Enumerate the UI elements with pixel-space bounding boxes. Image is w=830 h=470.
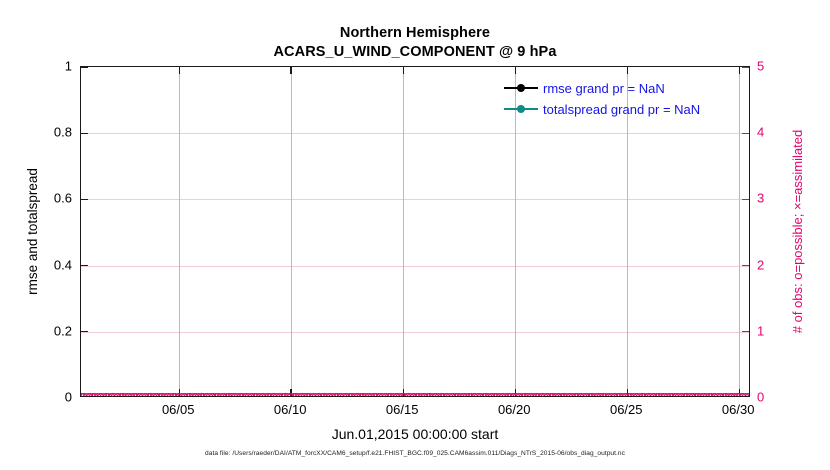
obs-possible-marker [404, 393, 411, 396]
obs-assimilated-marker: × [724, 392, 733, 396]
obs-assimilated-marker: × [719, 392, 728, 396]
obs-assimilated-marker: × [82, 392, 91, 396]
obs-assimilated-marker: × [741, 392, 749, 396]
obs-assimilated-marker: × [495, 392, 504, 396]
obs-possible-marker [555, 393, 562, 396]
obs-assimilated-marker: × [328, 392, 337, 396]
obs-possible-marker [694, 393, 701, 396]
obs-possible-marker [253, 393, 260, 396]
horizontal-gridline [81, 332, 749, 333]
obs-assimilated-marker: × [155, 392, 164, 396]
legend-swatch-rmse [504, 81, 538, 95]
obs-possible-marker [432, 393, 439, 396]
obs-possible-marker [225, 393, 232, 396]
obs-possible-marker [664, 393, 671, 396]
x-axis-tick [290, 389, 291, 396]
obs-assimilated-marker: × [300, 392, 309, 396]
obs-assimilated-marker: × [691, 392, 700, 396]
obs-possible-marker [136, 393, 143, 396]
obs-possible-marker [572, 393, 579, 396]
obs-assimilated-marker: × [199, 392, 208, 396]
chart-legend: rmse grand pr = NaN totalspread grand pr… [504, 80, 700, 117]
obs-possible-marker [170, 393, 177, 396]
obs-possible-marker [600, 393, 607, 396]
obs-possible-marker [326, 393, 333, 396]
obs-assimilated-marker: × [305, 392, 314, 396]
secondary-y-axis-tick-label: 3 [757, 191, 797, 206]
obs-possible-marker [602, 393, 609, 396]
y-axis-tick [81, 265, 88, 266]
obs-assimilated-marker: × [707, 392, 716, 396]
obs-assimilated-marker: × [356, 392, 365, 396]
obs-possible-marker [203, 393, 210, 396]
obs-possible-marker [273, 393, 280, 396]
obs-possible-marker [119, 393, 126, 396]
obs-assimilated-marker: × [138, 392, 147, 396]
obs-possible-marker [669, 393, 676, 396]
x-axis-tick-label: 06/15 [362, 402, 442, 417]
obs-possible-marker [81, 393, 87, 396]
secondary-y-axis-tick-label: 4 [757, 125, 797, 140]
obs-possible-marker [206, 393, 213, 396]
obs-assimilated-marker: × [663, 392, 672, 396]
obs-possible-marker [594, 393, 601, 396]
obs-possible-marker [706, 393, 713, 396]
obs-possible-marker [332, 393, 339, 396]
obs-assimilated-marker: × [372, 392, 381, 396]
obs-assimilated-marker: × [244, 392, 253, 396]
obs-possible-marker [292, 393, 299, 396]
obs-possible-marker [248, 393, 255, 396]
obs-assimilated-marker: × [99, 392, 108, 396]
obs-possible-marker [346, 393, 353, 396]
obs-possible-marker [359, 393, 366, 396]
obs-assimilated-marker: × [473, 392, 482, 396]
obs-possible-marker [675, 393, 682, 396]
obs-possible-marker [731, 393, 738, 396]
obs-possible-marker [237, 393, 244, 396]
obs-assimilated-marker: × [149, 392, 158, 396]
obs-possible-marker [259, 393, 266, 396]
y-axis-tick [81, 133, 88, 134]
obs-possible-marker [279, 393, 286, 396]
obs-possible-marker [440, 393, 447, 396]
x-axis-tick [627, 389, 628, 396]
obs-possible-marker [720, 393, 727, 396]
obs-assimilated-marker: × [216, 392, 225, 396]
vertical-gridline [179, 67, 180, 396]
x-axis-title: Jun.01,2015 00:00:00 start [0, 426, 830, 442]
vertical-gridline [403, 67, 404, 396]
obs-possible-marker [725, 393, 732, 396]
secondary-y-axis-tick [742, 199, 749, 200]
obs-assimilated-marker: × [250, 392, 259, 396]
horizontal-gridline [81, 199, 749, 200]
obs-possible-marker [393, 393, 400, 396]
obs-assimilated-marker: × [646, 392, 655, 396]
obs-possible-marker [373, 393, 380, 396]
obs-assimilated-marker: × [188, 392, 197, 396]
obs-assimilated-marker: × [562, 392, 571, 396]
obs-possible-marker [435, 393, 442, 396]
obs-possible-marker [468, 393, 475, 396]
obs-possible-marker [214, 393, 221, 396]
obs-possible-marker [128, 393, 135, 396]
obs-assimilated-marker: × [523, 392, 532, 396]
obs-possible-marker [485, 393, 492, 396]
obs-assimilated-marker: × [121, 392, 130, 396]
obs-assimilated-marker: × [81, 392, 86, 396]
obs-possible-marker [415, 393, 422, 396]
obs-assimilated-marker: × [211, 392, 220, 396]
obs-possible-marker [312, 393, 319, 396]
obs-possible-marker [466, 393, 473, 396]
x-axis-tick-label: 06/20 [474, 402, 554, 417]
obs-assimilated-marker: × [389, 392, 398, 396]
obs-possible-marker [301, 393, 308, 396]
obs-possible-marker [627, 393, 634, 396]
obs-possible-marker [703, 393, 710, 396]
obs-possible-marker [94, 393, 101, 396]
obs-possible-marker [147, 393, 154, 396]
obs-assimilated-marker: × [680, 392, 689, 396]
obs-assimilated-marker: × [652, 392, 661, 396]
obs-possible-marker [97, 393, 104, 396]
obs-assimilated-marker: × [445, 392, 454, 396]
x-axis-tick-label: 06/05 [138, 402, 218, 417]
obs-assimilated-marker: × [573, 392, 582, 396]
obs-possible-marker [457, 393, 464, 396]
obs-assimilated-marker: × [462, 392, 471, 396]
obs-assimilated-marker: × [439, 392, 448, 396]
obs-possible-marker [549, 393, 556, 396]
obs-possible-marker [281, 393, 288, 396]
x-axis-tick [515, 389, 516, 396]
obs-possible-marker [424, 393, 431, 396]
obs-possible-marker [658, 393, 665, 396]
obs-possible-marker [103, 393, 110, 396]
obs-possible-marker [86, 393, 93, 396]
obs-possible-marker [267, 393, 274, 396]
obs-possible-marker [616, 393, 623, 396]
obs-possible-marker [309, 393, 316, 396]
obs-assimilated-marker: × [423, 392, 432, 396]
obs-assimilated-marker: × [635, 392, 644, 396]
obs-possible-marker [452, 393, 459, 396]
y-axis-tick [81, 331, 88, 332]
obs-possible-marker [636, 393, 643, 396]
obs-possible-marker [161, 393, 168, 396]
obs-possible-marker [362, 393, 369, 396]
y-axis-tick-label: 0.4 [12, 257, 72, 272]
x-axis-tick-label: 06/30 [698, 402, 778, 417]
obs-possible-marker [371, 393, 378, 396]
y-axis-tick-label: 0 [12, 390, 72, 405]
obs-possible-marker [563, 393, 570, 396]
obs-possible-marker [560, 393, 567, 396]
obs-possible-marker [641, 393, 648, 396]
obs-assimilated-marker: × [596, 392, 605, 396]
obs-possible-marker [471, 393, 478, 396]
obs-possible-marker [714, 393, 721, 396]
legend-item-rmse[interactable]: rmse grand pr = NaN [504, 80, 700, 96]
obs-possible-marker [142, 393, 149, 396]
obs-count-marker-band: ××××××××××××××××××××××××××××××××××××××××… [81, 391, 749, 396]
obs-possible-marker [739, 393, 746, 396]
obs-possible-marker [700, 393, 707, 396]
obs-possible-marker [708, 393, 715, 396]
data-file-caption: data file: /Users/raeder/DAI/ATM_forcXX/… [0, 450, 830, 457]
obs-possible-marker [354, 393, 361, 396]
obs-possible-marker [742, 393, 749, 396]
obs-possible-marker [318, 393, 325, 396]
obs-assimilated-marker: × [104, 392, 113, 396]
chart-title: Northern Hemisphere [0, 24, 830, 43]
obs-possible-marker [276, 393, 283, 396]
obs-possible-marker [460, 393, 467, 396]
obs-possible-marker [619, 393, 626, 396]
obs-assimilated-marker: × [657, 392, 666, 396]
obs-possible-marker [262, 393, 269, 396]
obs-possible-marker [217, 393, 224, 396]
obs-assimilated-marker: × [629, 392, 638, 396]
secondary-y-axis-title: # of obs: o=possible; ×=assimilated [788, 66, 808, 397]
obs-assimilated-marker: × [116, 392, 125, 396]
obs-assimilated-marker: × [261, 392, 270, 396]
x-axis-tick-top [739, 67, 740, 74]
obs-assimilated-marker: × [417, 392, 426, 396]
obs-assimilated-marker: × [685, 392, 694, 396]
secondary-y-axis-tick-label: 2 [757, 257, 797, 272]
obs-assimilated-marker: × [607, 392, 616, 396]
obs-possible-marker [745, 393, 749, 396]
obs-possible-marker [343, 393, 350, 396]
obs-possible-marker [223, 393, 230, 396]
obs-possible-marker [502, 393, 509, 396]
obs-possible-marker [580, 393, 587, 396]
obs-possible-marker [588, 393, 595, 396]
obs-assimilated-marker: × [674, 392, 683, 396]
obs-possible-marker [198, 393, 205, 396]
obs-possible-marker [376, 393, 383, 396]
obs-possible-marker [111, 393, 118, 396]
obs-assimilated-marker: × [467, 392, 476, 396]
obs-possible-marker [527, 393, 534, 396]
obs-possible-marker [611, 393, 618, 396]
obs-possible-marker [156, 393, 163, 396]
obs-assimilated-marker: × [490, 392, 499, 396]
obs-possible-marker [633, 393, 640, 396]
obs-assimilated-marker: × [339, 392, 348, 396]
obs-possible-marker [385, 393, 392, 396]
obs-possible-marker [491, 393, 498, 396]
obs-possible-marker [410, 393, 417, 396]
obs-assimilated-marker: × [668, 392, 677, 396]
obs-possible-marker [683, 393, 690, 396]
secondary-y-axis-tick-label: 5 [757, 59, 797, 74]
obs-possible-marker [493, 393, 500, 396]
legend-label-totalspread: totalspread grand pr = NaN [543, 102, 700, 117]
obs-possible-marker [340, 393, 347, 396]
obs-possible-marker [519, 393, 526, 396]
obs-possible-marker [544, 393, 551, 396]
obs-assimilated-marker: × [484, 392, 493, 396]
obs-possible-marker [541, 393, 548, 396]
obs-possible-marker [114, 393, 121, 396]
obs-assimilated-marker: × [568, 392, 577, 396]
obs-possible-marker [348, 393, 355, 396]
obs-assimilated-marker: × [406, 392, 415, 396]
x-axis-tick [403, 389, 404, 396]
secondary-y-axis-tick-label: 1 [757, 323, 797, 338]
obs-possible-marker [265, 393, 272, 396]
obs-possible-marker [547, 393, 554, 396]
obs-possible-marker [125, 393, 132, 396]
obs-possible-marker [295, 393, 302, 396]
obs-possible-marker [639, 393, 646, 396]
obs-possible-marker [153, 393, 160, 396]
obs-possible-marker [323, 393, 330, 396]
obs-possible-marker [697, 393, 704, 396]
y-axis-title: rmse and totalspread [22, 66, 42, 397]
obs-possible-marker [390, 393, 397, 396]
obs-possible-marker [100, 393, 107, 396]
y-axis-tick-label: 0.8 [12, 125, 72, 140]
obs-assimilated-marker: × [518, 392, 527, 396]
obs-possible-marker [164, 393, 171, 396]
obs-possible-marker [488, 393, 495, 396]
obs-possible-marker [524, 393, 531, 396]
obs-assimilated-marker: × [451, 392, 460, 396]
obs-possible-marker [426, 393, 433, 396]
obs-possible-marker [438, 393, 445, 396]
obs-assimilated-marker: × [160, 392, 169, 396]
obs-possible-marker [449, 393, 456, 396]
obs-assimilated-marker: × [255, 392, 264, 396]
obs-possible-marker [337, 393, 344, 396]
obs-possible-marker [711, 393, 718, 396]
obs-possible-marker [678, 393, 685, 396]
obs-possible-marker [661, 393, 668, 396]
obs-assimilated-marker: × [479, 392, 488, 396]
obs-assimilated-marker: × [311, 392, 320, 396]
obs-assimilated-marker: × [194, 392, 203, 396]
obs-assimilated-marker: × [412, 392, 421, 396]
obs-possible-marker [131, 393, 138, 396]
obs-assimilated-marker: × [546, 392, 555, 396]
obs-possible-marker [407, 393, 414, 396]
obs-possible-marker [521, 393, 528, 396]
obs-assimilated-marker: × [613, 392, 622, 396]
secondary-y-axis-tick [742, 265, 749, 266]
obs-possible-marker [681, 393, 688, 396]
obs-possible-marker [209, 393, 216, 396]
obs-possible-marker [379, 393, 386, 396]
obs-possible-marker [569, 393, 576, 396]
obs-assimilated-marker: × [590, 392, 599, 396]
legend-swatch-totalspread [504, 102, 538, 116]
obs-possible-marker [189, 393, 196, 396]
obs-possible-marker [387, 393, 394, 396]
x-axis-tick [179, 389, 180, 396]
obs-assimilated-marker: × [166, 392, 175, 396]
x-axis-tick [739, 389, 740, 396]
obs-assimilated-marker: × [238, 392, 247, 396]
obs-possible-marker [477, 393, 484, 396]
obs-assimilated-marker: × [534, 392, 543, 396]
obs-possible-marker [270, 393, 277, 396]
obs-possible-marker [605, 393, 612, 396]
chart-title-block: Northern Hemisphere ACARS_U_WIND_COMPONE… [0, 24, 830, 62]
obs-assimilated-marker: × [132, 392, 141, 396]
obs-assimilated-marker: × [88, 392, 97, 396]
obs-possible-marker [644, 393, 651, 396]
obs-possible-marker [382, 393, 389, 396]
obs-assimilated-marker: × [266, 392, 275, 396]
obs-assimilated-marker: × [557, 392, 566, 396]
obs-possible-marker [212, 393, 219, 396]
obs-possible-marker [429, 393, 436, 396]
obs-possible-marker [133, 393, 140, 396]
obs-possible-marker [454, 393, 461, 396]
obs-possible-marker [689, 393, 696, 396]
chart-subtitle: ACARS_U_WIND_COMPONENT @ 9 hPa [0, 43, 830, 62]
obs-possible-marker [538, 393, 545, 396]
obs-possible-marker [686, 393, 693, 396]
horizontal-gridline [81, 133, 749, 134]
obs-possible-marker [530, 393, 537, 396]
obs-possible-marker [117, 393, 124, 396]
obs-possible-marker [89, 393, 96, 396]
obs-possible-marker [507, 393, 514, 396]
obs-assimilated-marker: × [294, 392, 303, 396]
obs-possible-marker [655, 393, 662, 396]
obs-possible-marker [200, 393, 207, 396]
obs-possible-marker [717, 393, 724, 396]
obs-assimilated-marker: × [456, 392, 465, 396]
obs-assimilated-marker: × [747, 392, 750, 396]
legend-label-rmse: rmse grand pr = NaN [543, 81, 665, 96]
y-axis-tick-label: 0.6 [12, 191, 72, 206]
obs-assimilated-marker: × [428, 392, 437, 396]
obs-possible-marker [499, 393, 506, 396]
obs-possible-marker [334, 393, 341, 396]
obs-assimilated-marker: × [640, 392, 649, 396]
obs-assimilated-marker: × [345, 392, 354, 396]
obs-possible-marker [91, 393, 98, 396]
obs-assimilated-marker: × [696, 392, 705, 396]
obs-possible-marker [577, 393, 584, 396]
obs-assimilated-marker: × [222, 392, 231, 396]
obs-possible-marker [463, 393, 470, 396]
obs-assimilated-marker: × [278, 392, 287, 396]
obs-possible-marker [365, 393, 372, 396]
obs-possible-marker [234, 393, 241, 396]
obs-possible-marker [533, 393, 540, 396]
obs-possible-marker [351, 393, 358, 396]
obs-assimilated-marker: × [702, 392, 711, 396]
obs-possible-marker [482, 393, 489, 396]
obs-possible-marker [608, 393, 615, 396]
obs-possible-marker [368, 393, 375, 396]
legend-item-totalspread[interactable]: totalspread grand pr = NaN [504, 101, 700, 117]
obs-possible-marker [195, 393, 202, 396]
obs-possible-marker [516, 393, 523, 396]
obs-assimilated-marker: × [233, 392, 242, 396]
obs-possible-marker [574, 393, 581, 396]
obs-possible-marker [256, 393, 263, 396]
obs-possible-marker [647, 393, 654, 396]
